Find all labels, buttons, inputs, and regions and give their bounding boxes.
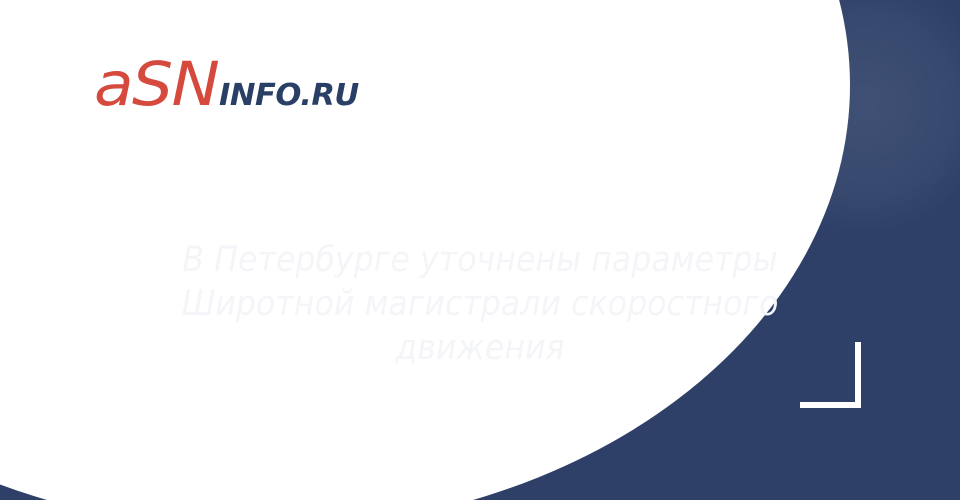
site-logo[interactable]: aSN INFO.RU [94, 54, 356, 112]
logo-asn-text: aSN [94, 54, 218, 115]
headline: В Петербурге уточнены параметры Широтной… [80, 238, 880, 370]
logo-infodotru-text: INFO.RU [219, 81, 359, 111]
headline-line-3: движения [80, 326, 880, 370]
headline-line-2: Широтной магистрали скоростного [80, 282, 880, 326]
corner-bracket-decoration [800, 342, 861, 408]
news-card-canvas: aSN INFO.RU В Петербурге уточнены параме… [0, 0, 960, 500]
corner-bracket-horizontal-bar [800, 402, 861, 408]
corner-bracket-vertical-bar [855, 342, 861, 408]
headline-line-1: В Петербурге уточнены параметры [80, 238, 880, 282]
